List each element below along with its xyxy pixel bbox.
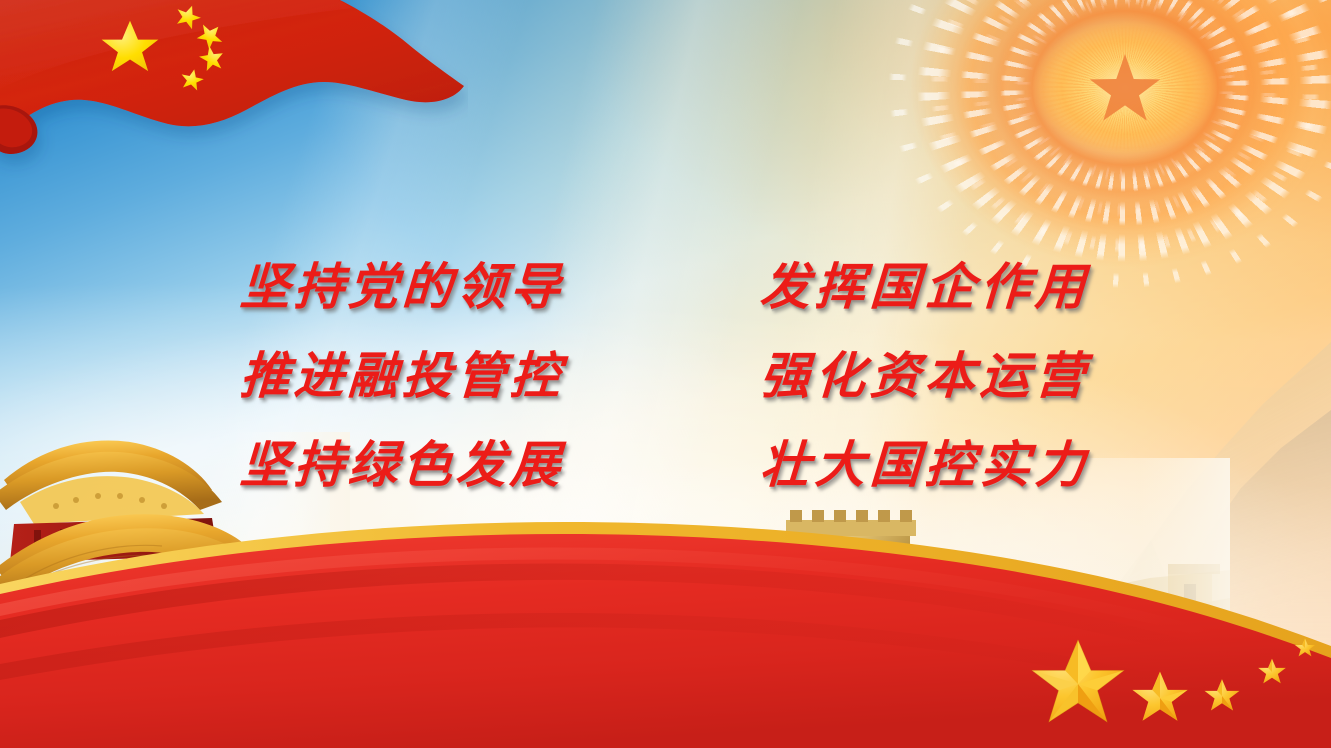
slogan-line-right-2: 强化资本运营 [759, 351, 1092, 401]
slogan-line-right-3: 壮大国控实力 [759, 440, 1092, 490]
slogan-line-left-2: 推进融投管控 [239, 351, 566, 401]
slogan-line-left-3: 坚持绿色发展 [239, 440, 566, 490]
poster-canvas: 坚持党的领导 推进融投管控 坚持绿色发展 发挥国企作用 强化资本运营 壮大国控实… [0, 0, 1331, 748]
slogan-column-right: 发挥国企作用 强化资本运营 壮大国控实力 [760, 262, 1090, 490]
slogan-column-left: 坚持党的领导 推进融投管控 坚持绿色发展 [240, 262, 564, 490]
slogan-line-right-1: 发挥国企作用 [759, 262, 1092, 312]
slogan-block: 坚持党的领导 推进融投管控 坚持绿色发展 发挥国企作用 强化资本运营 壮大国控实… [240, 262, 1090, 490]
chinese-flag-icon [0, 0, 468, 190]
slogan-line-left-1: 坚持党的领导 [239, 262, 566, 312]
sunburst-center-star-icon [1088, 52, 1162, 124]
red-ribbon-banner [0, 488, 1331, 748]
